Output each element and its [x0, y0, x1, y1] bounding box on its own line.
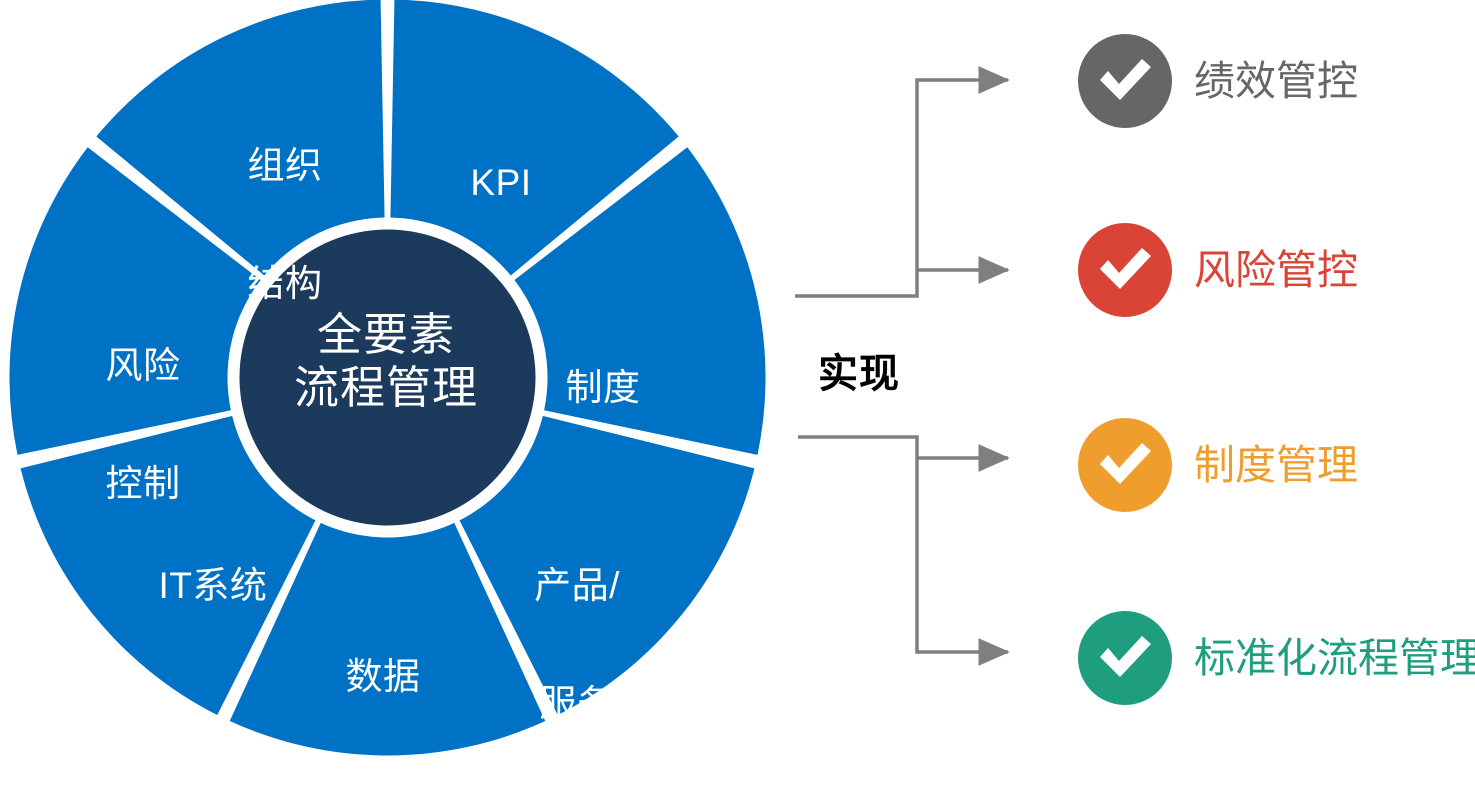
- outcome-policy-management[interactable]: 制度管理: [1078, 417, 1358, 513]
- connector-to-standard-process: [798, 437, 1008, 652]
- check-icon: [1078, 34, 1172, 128]
- connector-to-performance: [795, 80, 1008, 296]
- outcome-performance-control[interactable]: 绩效管控: [1078, 33, 1358, 129]
- check-icon: [1078, 611, 1172, 705]
- wheel-center-label: 全要素 流程管理: [221, 308, 551, 414]
- outcome-risk-control[interactable]: 风险管控: [1078, 222, 1358, 318]
- outcome-label: 绩效管控: [1194, 61, 1358, 102]
- outcome-label: 标准化流程管理: [1194, 638, 1475, 679]
- realize-label: 实现: [818, 341, 900, 399]
- connector-lower-group: [798, 437, 1008, 652]
- outcome-label: 风险管控: [1194, 250, 1358, 291]
- connector-upper-group: [795, 80, 1008, 296]
- check-icon: [1078, 418, 1172, 512]
- outcome-standardized-process-management[interactable]: 标准化流程管理: [1078, 610, 1475, 706]
- check-icon: [1078, 223, 1172, 317]
- diagram-canvas: KPI 制度 产品/ 服务 数据 IT系统 风险 控制 组织 结构 全要素 流程…: [0, 0, 1475, 753]
- outcome-label: 制度管理: [1194, 445, 1358, 486]
- all-elements-process-wheel: KPI 制度 产品/ 服务 数据 IT系统 风险 控制 组织 结构 全要素 流程…: [0, 0, 775, 765]
